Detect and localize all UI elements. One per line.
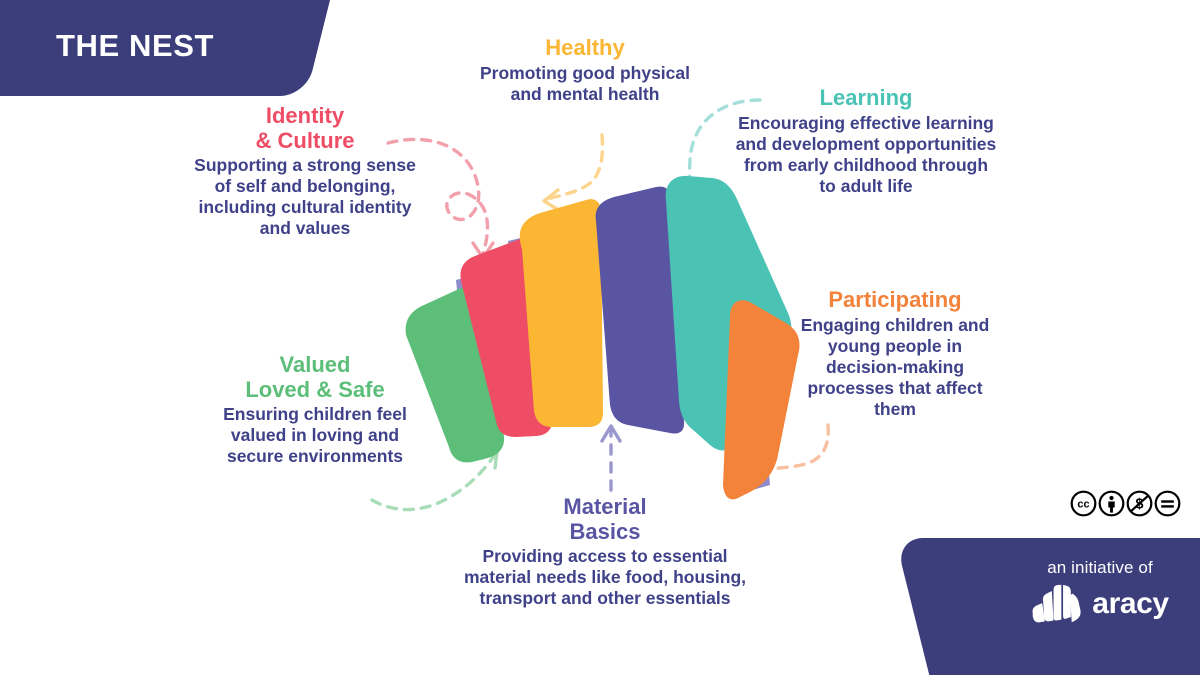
domain-title-identity-line2: & Culture bbox=[190, 129, 420, 154]
domain-body-identity: Supporting a strong sense of self and be… bbox=[190, 155, 420, 239]
creative-commons-license: cc $ bbox=[1070, 490, 1181, 517]
domain-title-material: Material Basics bbox=[455, 495, 755, 544]
nest-fan-graphic bbox=[400, 175, 800, 515]
domain-body-valued: Ensuring children feel valued in loving … bbox=[215, 404, 415, 467]
domain-block-participating: Participating Engaging children and youn… bbox=[790, 288, 1000, 420]
domain-title-valued-line2: Loved & Safe bbox=[215, 378, 415, 403]
footer-initiative-text: an initiative of bbox=[1000, 558, 1200, 578]
cc-icon: cc bbox=[1070, 490, 1097, 517]
petal-participating bbox=[723, 300, 800, 499]
domain-title-learning: Learning bbox=[735, 86, 997, 111]
footer-logo-row: aracy bbox=[1000, 584, 1200, 624]
nest-infographic: THE NEST bbox=[0, 0, 1200, 675]
domain-title-identity-line1: Identity bbox=[190, 104, 420, 129]
domain-body-participating: Engaging children and young people in de… bbox=[790, 315, 1000, 420]
domain-title-valued-line1: Valued bbox=[215, 353, 415, 378]
domain-block-identity: Identity & Culture Supporting a strong s… bbox=[190, 104, 420, 239]
domain-body-learning: Encouraging effective learning and devel… bbox=[735, 113, 997, 197]
domain-title-participating: Participating bbox=[790, 288, 1000, 313]
domain-title-healthy: Healthy bbox=[470, 36, 700, 61]
domain-block-healthy: Healthy Promoting good physical and ment… bbox=[470, 36, 700, 105]
domain-title-material-line2: Basics bbox=[455, 520, 755, 545]
footer-brand-name: aracy bbox=[1092, 589, 1168, 619]
cc-nc-icon: $ bbox=[1126, 490, 1153, 517]
domain-title-identity: Identity & Culture bbox=[190, 104, 420, 153]
page-title: THE NEST bbox=[56, 28, 214, 64]
svg-text:cc: cc bbox=[1077, 499, 1089, 511]
domain-title-material-line1: Material bbox=[455, 495, 755, 520]
domain-block-material: Material Basics Providing access to esse… bbox=[455, 495, 755, 609]
domain-block-valued: Valued Loved & Safe Ensuring children fe… bbox=[215, 353, 415, 467]
domain-block-learning: Learning Encouraging effective learning … bbox=[735, 86, 997, 197]
cc-nd-icon bbox=[1154, 490, 1181, 517]
domain-body-material: Providing access to essential material n… bbox=[455, 546, 755, 609]
domain-title-valued: Valued Loved & Safe bbox=[215, 353, 415, 402]
cc-by-icon bbox=[1098, 490, 1125, 517]
footer-content: an initiative of aracy bbox=[1000, 558, 1200, 624]
domain-body-healthy: Promoting good physical and mental healt… bbox=[470, 63, 700, 105]
aracy-fan-logo-icon bbox=[1031, 584, 1083, 624]
